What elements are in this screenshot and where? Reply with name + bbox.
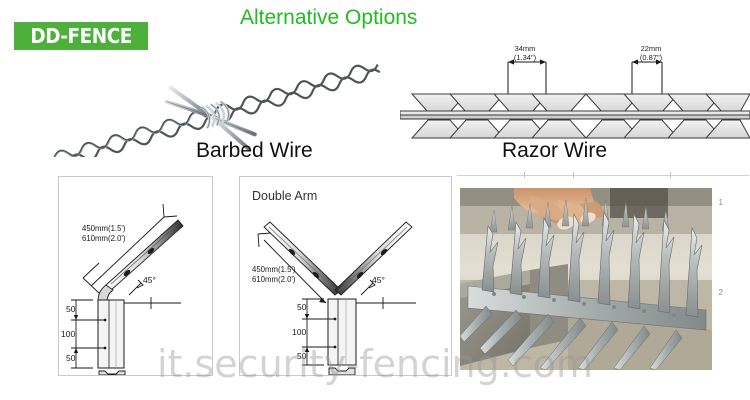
photo-top-rule xyxy=(457,175,749,176)
rule-tick xyxy=(573,172,574,178)
edge-mark-1: 1 xyxy=(719,198,723,207)
double-arm-spacing-top: 50 xyxy=(297,302,306,312)
double-arm-length-primary: 450mm(1.5') xyxy=(252,265,296,275)
razor-dimension-22mm-metric: 22mm xyxy=(641,44,662,53)
single-arm-spacing-middle: 100 xyxy=(61,329,75,339)
razor-wire-caption: Razor Wire xyxy=(502,139,607,163)
double-arm-length-secondary: 610mm(2.0') xyxy=(252,275,296,285)
single-arm-angle: 45° xyxy=(143,275,156,285)
single-arm-length-secondary: 610mm(2.0') xyxy=(82,234,126,244)
barbed-wire-caption: Barbed Wire xyxy=(196,139,313,163)
double-arm-spacing-bottom: 50 xyxy=(297,351,306,361)
razor-dimension-34mm-metric: 34mm xyxy=(515,44,536,53)
rule-tick xyxy=(670,172,671,178)
brand-logo: DD-FENCE xyxy=(14,22,148,50)
single-arm-spacing-top: 50 xyxy=(66,304,75,314)
double-arm-spacing-middle: 100 xyxy=(292,327,306,337)
rule-tick xyxy=(524,172,525,178)
single-arm-panel: 450mm(1.5') 610mm(2.0') 45° 50 100 50 xyxy=(58,176,213,376)
razor-dimension-22mm: 22mm (0.87") xyxy=(608,44,694,62)
razor-dimension-22mm-imperial: (0.87") xyxy=(640,53,662,62)
single-arm-length-primary: 450mm(1.5') xyxy=(82,224,126,234)
razor-dimension-34mm-imperial: (1.34") xyxy=(514,53,536,62)
brand-logo-text: DD-FENCE xyxy=(30,24,131,48)
wall-spikes-photo xyxy=(460,188,712,370)
single-arm-spacing-bottom: 50 xyxy=(66,353,75,363)
double-arm-angle: 45° xyxy=(372,275,385,285)
edge-mark-2: 2 xyxy=(719,288,723,297)
razor-dimension-34mm: 34mm (1.34") xyxy=(482,44,568,62)
double-arm-panel: Double Arm xyxy=(239,176,452,376)
page-title: Alternative Options xyxy=(240,6,417,30)
product-image-canvas: DD-FENCE Alternative Options xyxy=(0,0,750,400)
double-arm-title: Double Arm xyxy=(252,189,317,203)
razor-wire-diagram: 34mm (1.34") 22mm (0.87") xyxy=(400,40,750,140)
